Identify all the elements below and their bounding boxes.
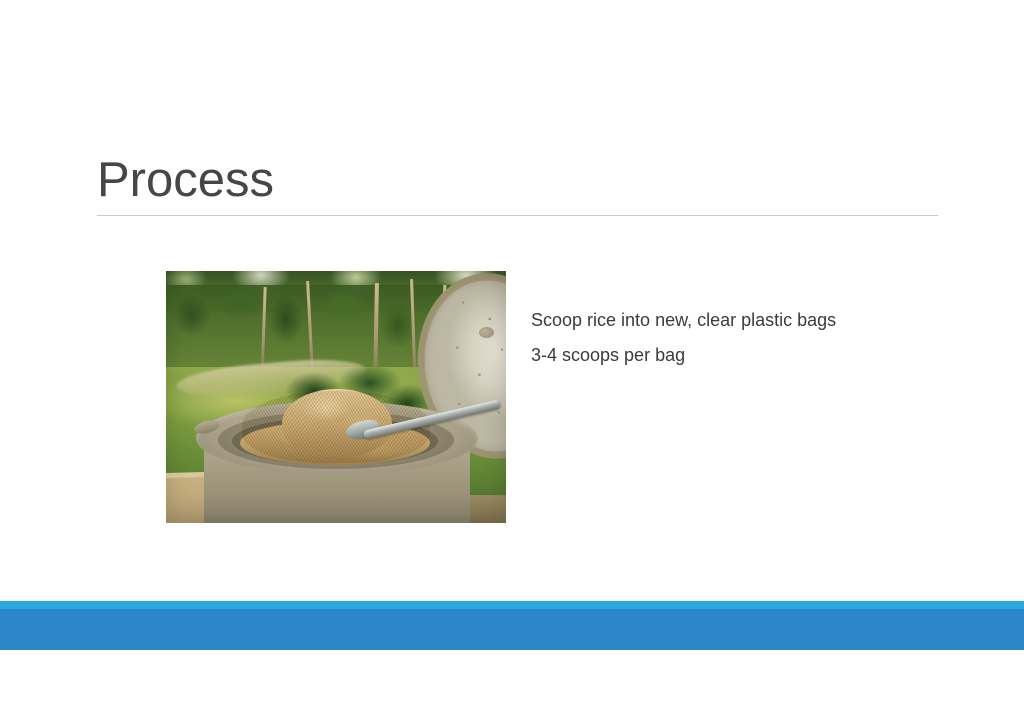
cooker-lid-knob <box>479 327 494 338</box>
body-line: 3-4 scoops per bag <box>531 338 931 373</box>
page-title: Process <box>97 150 274 210</box>
presentation-slide: Process <box>0 0 1024 724</box>
photo-scene <box>166 271 506 523</box>
body-line: Scoop rice into new, clear plastic bags <box>531 303 931 338</box>
footer-bar <box>0 609 1024 650</box>
footer-accent-bar <box>0 601 1024 609</box>
body-text-block: Scoop rice into new, clear plastic bags … <box>531 303 931 373</box>
title-divider <box>97 215 938 216</box>
process-photo[interactable] <box>166 271 506 523</box>
